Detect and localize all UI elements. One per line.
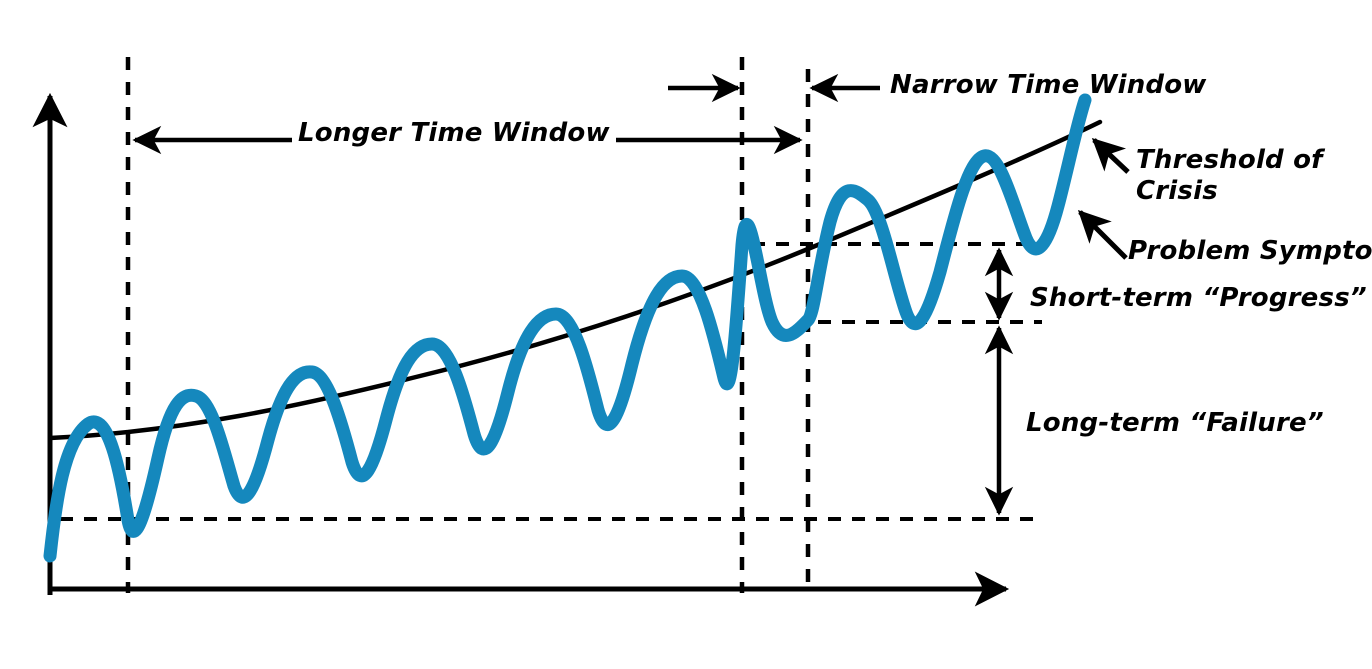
threshold-of-crisis-label: Threshold of Crisis	[1136, 145, 1323, 206]
problem-symptom-label: Problem Symptom	[1128, 236, 1372, 267]
narrow-time-window-label: Narrow Time Window	[890, 70, 1207, 101]
longer-time-window-label: Longer Time Window	[292, 118, 616, 149]
threshold-of-crisis-pointer-arrow-icon	[1094, 140, 1128, 172]
threshold-of-crisis-label-line2: Crisis	[1136, 176, 1323, 207]
short-term-progress-label: Short-term “Progress”	[1030, 283, 1367, 314]
diagram-canvas: Longer Time Window Narrow Time Window Th…	[0, 0, 1372, 669]
problem-symptom-pointer-arrow-icon	[1080, 212, 1126, 258]
long-term-failure-label: Long-term “Failure”	[1026, 408, 1324, 439]
problem-symptom-curve	[50, 100, 1085, 556]
threshold-of-crisis-label-line1: Threshold of	[1136, 145, 1323, 176]
